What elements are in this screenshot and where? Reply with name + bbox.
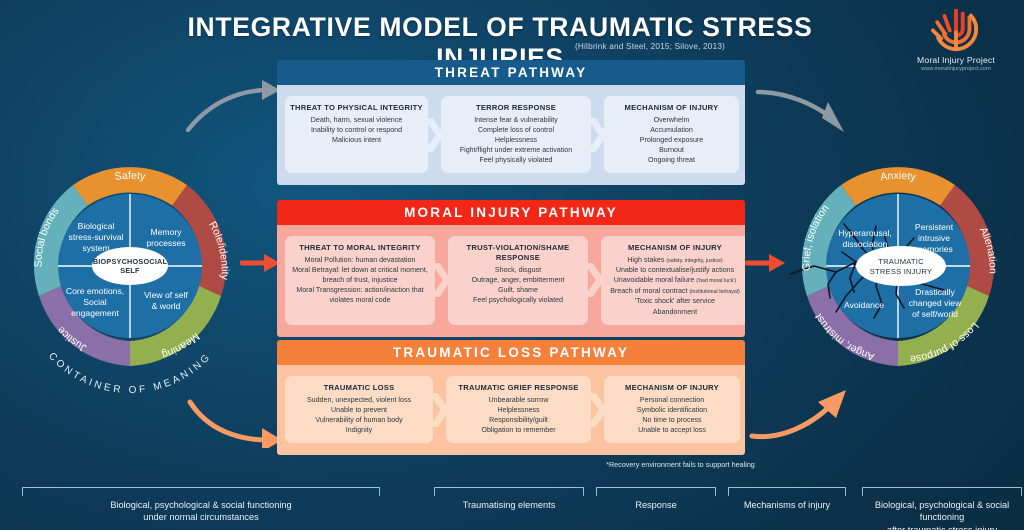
svg-text:processes: processes: [146, 238, 185, 248]
bracket-label-1-line-2: under normal circumstances: [22, 511, 380, 523]
moral-box-1: THREAT TO MORAL INTEGRITY Moral Pollutio…: [285, 236, 435, 325]
chevron-right-icon: [591, 393, 604, 427]
bracket-label-4-line-1: Mechanisms of injury: [728, 499, 846, 511]
threat-box-3-heading: MECHANISM OF INJURY: [609, 103, 734, 113]
loss-box-2-line-2: Helplessness: [451, 405, 586, 415]
bracket-label-5: Biological, psychological & social funct…: [862, 499, 1022, 530]
wheel-left-label-safety: Safety: [114, 170, 147, 183]
loss-box-3-line-1: Personal connection: [609, 395, 735, 405]
svg-text:Core emotions,: Core emotions,: [66, 286, 124, 296]
threat-box-2: TERROR RESPONSE Intense fear & vulnerabi…: [441, 96, 591, 173]
threat-box-1-line-3: Malicious intent: [290, 135, 423, 145]
threat-box-3-line-5: Ongoing threat: [609, 155, 734, 165]
moral-box-3: MECHANISM OF INJURY High stakes (safety,…: [601, 236, 745, 325]
loss-box-1-line-1: Sudden, unexpected, violent loss: [290, 395, 428, 405]
loss-box-1-line-3: Vulnerability of human body: [290, 415, 428, 425]
threat-box-3-line-4: Burnout: [609, 145, 734, 155]
wheel-biopsychosocial-self: Safety Role/identity Meaning Justice Soc…: [16, 152, 244, 380]
pathway-moral: MORAL INJURY PATHWAY THREAT TO MORAL INT…: [277, 200, 745, 337]
wheel-right-center-badge: [856, 246, 946, 286]
bracket-label-2: Traumatising elements: [434, 499, 584, 511]
svg-text:Hyperarousal,: Hyperarousal,: [838, 228, 892, 238]
pathway-loss-body: TRAUMATIC LOSS Sudden, unexpected, viole…: [277, 365, 745, 455]
moral-box-1-line-1: Moral Pollution: human devastation: [290, 255, 430, 265]
chevron-right-icon: [433, 393, 446, 427]
chevron-right-icon: [588, 263, 601, 297]
svg-text:Drastically: Drastically: [915, 287, 955, 297]
bracket-bar-4: [728, 487, 846, 496]
pathway-loss-title: TRAUMATIC LOSS PATHWAY: [277, 340, 745, 365]
svg-text:engagement: engagement: [71, 308, 119, 318]
threat-box-3-line-2: Accumulation: [609, 125, 734, 135]
svg-text:TRAUMATIC: TRAUMATIC: [878, 257, 924, 266]
moral-box-3-line-2: Unable to contextualise/justify actions: [606, 265, 744, 275]
bracket-label-5-line-1: Biological, psychological & social funct…: [862, 499, 1022, 524]
bracket-label-1-line-1: Biological, psychological & social funct…: [22, 499, 380, 511]
chevron-right-icon: [591, 118, 604, 152]
arrow-left-circle-to-loss-icon: [182, 392, 292, 448]
bracket-bar-1: [22, 487, 380, 496]
moral-box-3-line-4: Breach of moral contract (institutional …: [606, 286, 744, 297]
svg-text:Avoidance: Avoidance: [844, 300, 884, 310]
loss-box-2: TRAUMATIC GRIEF RESPONSE Unbearable sorr…: [446, 376, 591, 443]
svg-text:dissociation: dissociation: [843, 239, 888, 249]
moral-box-3-line-6: Abandonment: [606, 307, 744, 317]
svg-text:STRESS INJURY: STRESS INJURY: [870, 267, 932, 276]
pathway-threat-title: THREAT PATHWAY: [277, 60, 745, 85]
pathway-moral-body: THREAT TO MORAL INTEGRITY Moral Pollutio…: [277, 225, 745, 337]
loss-box-1-line-2: Unable to prevent: [290, 405, 428, 415]
pathway-threat: THREAT PATHWAY THREAT TO PHYSICAL INTEGR…: [277, 60, 745, 185]
moral-box-1-line-4: Moral Transgression: action/inaction tha…: [290, 285, 430, 295]
moral-box-2-heading: TRUST-VIOLATION/SHAME RESPONSE: [453, 243, 583, 263]
bracket-bar-5: [862, 487, 1022, 496]
svg-text:Biological: Biological: [78, 221, 115, 231]
pathway-threat-body: THREAT TO PHYSICAL INTEGRITY Death, harm…: [277, 85, 745, 185]
logo-name: Moral Injury Project: [896, 55, 1016, 65]
chevron-right-icon: [435, 263, 448, 297]
moral-box-3-heading: MECHANISM OF INJURY: [606, 243, 744, 253]
bracket-label-2-line-1: Traumatising elements: [434, 499, 584, 511]
bracket-label-1: Biological, psychological & social funct…: [22, 499, 380, 524]
loss-box-1: TRAUMATIC LOSS Sudden, unexpected, viole…: [285, 376, 433, 443]
arrow-left-circle-to-threat-icon: [182, 78, 292, 138]
moral-box-2-line-2: Outrage, anger, embitterment: [453, 275, 583, 285]
chevron-right-icon: [428, 118, 441, 152]
loss-box-2-line-3: Responsibility/guilt: [451, 415, 586, 425]
arrow-moral-to-right-circle-icon: [745, 250, 787, 276]
threat-box-1-line-1: Death, harm, sexual violence: [290, 115, 423, 125]
loss-box-1-heading: TRAUMATIC LOSS: [290, 383, 428, 393]
loss-box-3-line-3: No time to process: [609, 415, 735, 425]
loss-box-1-line-4: Indignity: [290, 425, 428, 435]
logo-url[interactable]: www.moralinjuryproject.com: [896, 66, 1016, 72]
moral-box-1-line-2: Moral Betrayal: let down at critical mom…: [290, 265, 430, 275]
svg-text:& world: & world: [152, 301, 181, 311]
loss-box-2-line-4: Obligation to remember: [451, 425, 586, 435]
moral-box-2-line-1: Shock, disgust: [453, 265, 583, 275]
moral-box-2-line-3: Guilt, shame: [453, 285, 583, 295]
moral-box-3-line-3: Unavoidable moral failure ('bad moral lu…: [606, 275, 744, 286]
svg-text:of self/world: of self/world: [912, 309, 958, 319]
moral-box-2: TRUST-VIOLATION/SHAME RESPONSE Shock, di…: [448, 236, 588, 325]
loss-box-3-heading: MECHANISM OF INJURY: [609, 383, 735, 393]
bracket-4: Mechanisms of injury: [728, 487, 846, 511]
bottom-bracket-row: Biological, psychological & social funct…: [0, 487, 1024, 530]
arrow-threat-to-right-circle-icon: [744, 78, 854, 138]
pathway-moral-title: MORAL INJURY PATHWAY: [277, 200, 745, 225]
arrow-left-circle-to-moral-icon: [240, 250, 282, 276]
bracket-2: Traumatising elements: [434, 487, 584, 511]
bracket-label-3-line-1: Response: [596, 499, 716, 511]
loss-box-2-heading: TRAUMATIC GRIEF RESPONSE: [451, 383, 586, 393]
svg-text:changed view: changed view: [909, 298, 962, 308]
threat-box-1-line-2: Inability to control or respond: [290, 125, 423, 135]
wheel-right-quadrant-avoidance: Avoidance: [844, 300, 884, 310]
wheel-right-label-anxiety: Anxiety: [879, 170, 917, 184]
threat-box-3: MECHANISM OF INJURY Overwhelm Accumulati…: [604, 96, 739, 173]
threat-box-2-line-5: Feel physically violated: [446, 155, 586, 165]
bracket-label-3: Response: [596, 499, 716, 511]
bracket-label-5-line-2: after traumatic stress injury: [862, 524, 1022, 530]
svg-text:Memory: Memory: [150, 227, 182, 237]
svg-text:intrusive: intrusive: [918, 233, 950, 243]
threat-box-3-line-3: Prolonged exposure: [609, 135, 734, 145]
moral-box-1-heading: THREAT TO MORAL INTEGRITY: [290, 243, 430, 253]
wheel-left-quadrant-memory: Memory processes: [146, 227, 185, 248]
bracket-1: Biological, psychological & social funct…: [22, 487, 380, 524]
moral-box-1-line-3: breach of trust, injustice: [290, 275, 430, 285]
svg-text:View of self: View of self: [144, 290, 188, 300]
bracket-5: Biological, psychological & social funct…: [862, 487, 1022, 530]
wheel-right-quadrant-hyperarousal: Hyperarousal, dissociation: [838, 228, 892, 249]
wheel-traumatic-stress-injury: Anxiety Alienation Loss of purpose Anger…: [784, 152, 1012, 380]
wheel-right-quadrant-changed-view: Drastically changed view of self/world: [909, 287, 962, 319]
threat-box-1: THREAT TO PHYSICAL INTEGRITY Death, harm…: [285, 96, 428, 173]
citation: (Hilbrink and Steel, 2015; Silove, 2013): [420, 42, 880, 51]
moral-box-2-line-4: Feel psychologically violated: [453, 295, 583, 305]
svg-text:Social: Social: [83, 297, 106, 307]
threat-box-1-heading: THREAT TO PHYSICAL INTEGRITY: [290, 103, 423, 113]
recovery-footnote: *Recovery environment fails to support h…: [603, 460, 758, 470]
header: INTEGRATIVE MODEL OF TRAUMATIC STRESS IN…: [0, 6, 1024, 62]
svg-text:stress-survival: stress-survival: [69, 232, 124, 242]
fingerprint-hand-logo-icon: [927, 4, 985, 54]
moral-box-3-line-1: High stakes (safety, integrity, justice): [606, 255, 744, 266]
logo-block[interactable]: Moral Injury Project www.moralinjuryproj…: [896, 4, 1016, 72]
pathway-loss: TRAUMATIC LOSS PATHWAY TRAUMATIC LOSS Su…: [277, 340, 745, 455]
svg-text:Persistent: Persistent: [915, 222, 954, 232]
threat-box-3-line-1: Overwhelm: [609, 115, 734, 125]
bracket-3: Response: [596, 487, 716, 511]
moral-box-1-line-5: violates moral code: [290, 295, 430, 305]
threat-box-2-line-3: Helplessness: [446, 135, 586, 145]
moral-box-3-line-5: 'Toxic shock' after service: [606, 296, 744, 306]
arrow-loss-to-right-circle-icon: [742, 382, 862, 450]
bracket-bar-2: [434, 487, 584, 496]
threat-box-2-line-1: Intense fear & vulnerability: [446, 115, 586, 125]
loss-box-3: MECHANISM OF INJURY Personal connection …: [604, 376, 740, 443]
bracket-bar-3: [596, 487, 716, 496]
threat-box-2-heading: TERROR RESPONSE: [446, 103, 586, 113]
threat-box-2-line-2: Complete loss of control: [446, 125, 586, 135]
svg-text:SELF: SELF: [120, 266, 140, 275]
svg-text:BIOPSYCHOSOCIAL: BIOPSYCHOSOCIAL: [93, 257, 168, 266]
bracket-label-4: Mechanisms of injury: [728, 499, 846, 511]
loss-box-3-line-4: Unable to accept loss: [609, 425, 735, 435]
loss-box-3-line-2: Symbolic identification: [609, 405, 735, 415]
threat-box-2-line-4: Fight/flight under extreme activation: [446, 145, 586, 155]
loss-box-2-line-1: Unbearable sorrow: [451, 395, 586, 405]
